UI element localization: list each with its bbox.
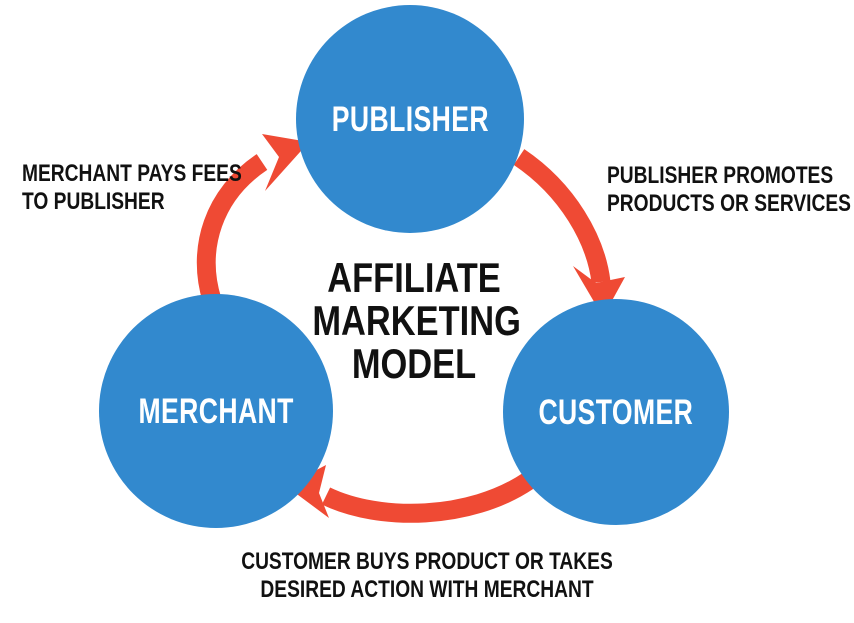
diagram-title-line-1: AFFILIATE — [312, 256, 515, 299]
node-publisher-label: PUBLISHER — [331, 102, 488, 137]
node-publisher[interactable]: PUBLISHER — [296, 5, 524, 233]
caption-customer-buys-product: CUSTOMER BUYS PRODUCT OR TAKES DESIRED A… — [177, 548, 677, 604]
caption-merchant-pays-fees-line-2: TO PUBLISHER — [22, 188, 242, 216]
caption-customer-buys-product-line-2: DESIRED ACTION WITH MERCHANT — [227, 576, 627, 604]
caption-merchant-pays-fees-line-1: MERCHANT PAYS FEES — [22, 160, 242, 188]
affiliate-marketing-model-diagram: PUBLISHER MERCHANT CUSTOMER AFFILIATE MA… — [0, 0, 854, 623]
caption-publisher-promotes-line-2: PRODUCTS OR SERVICES — [607, 190, 851, 218]
caption-customer-buys-product-line-1: CUSTOMER BUYS PRODUCT OR TAKES — [227, 548, 627, 576]
diagram-title-line-3: MODEL — [312, 342, 515, 385]
node-customer-label: CUSTOMER — [539, 395, 694, 430]
caption-publisher-promotes: PUBLISHER PROMOTES PRODUCTS OR SERVICES — [607, 162, 854, 218]
caption-merchant-pays-fees: MERCHANT PAYS FEES TO PUBLISHER — [22, 160, 297, 216]
caption-publisher-promotes-line-1: PUBLISHER PROMOTES — [607, 162, 851, 190]
node-merchant-label: MERCHANT — [138, 394, 293, 429]
diagram-title-line-2: MARKETING — [312, 299, 515, 342]
arrow-customer-to-merchant — [286, 465, 528, 518]
diagram-title: AFFILIATE MARKETING MODEL — [290, 256, 538, 385]
